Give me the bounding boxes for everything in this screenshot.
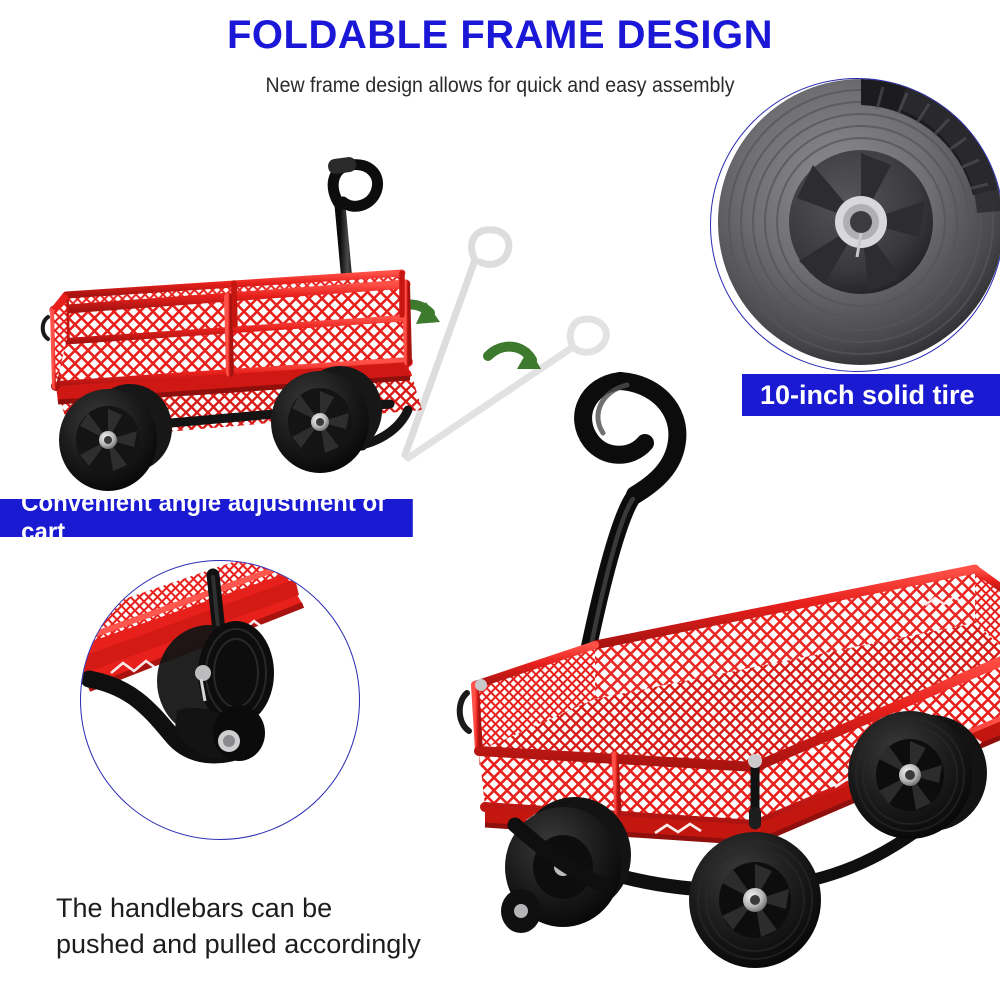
main-wheel-front-near xyxy=(848,711,972,839)
banner-angle-adjustment: Convenient angle adjustment of cart xyxy=(0,499,413,537)
handlebars-caption: The handlebars can be pushed and pulled … xyxy=(56,890,456,963)
cart-wheel-front-near xyxy=(271,371,369,473)
main-cart-steering-fork xyxy=(501,807,621,933)
main-wheel-rear-near xyxy=(689,832,821,968)
handlebars-caption-line1: The handlebars can be xyxy=(56,890,456,926)
page-title: FOLDABLE FRAME DESIGN xyxy=(0,14,1000,56)
handlebars-caption-line2: pushed and pulled accordingly xyxy=(56,926,456,962)
infographic-canvas: FOLDABLE FRAME DESIGN New frame design a… xyxy=(0,0,1000,1000)
main-cart-figure xyxy=(455,355,1000,980)
banner-angle-adjustment-label: Convenient angle adjustment of cart xyxy=(21,489,413,547)
tire-closeup-circle xyxy=(710,78,1000,372)
angle-adjustment-closeup-circle xyxy=(80,560,360,840)
cart-wheel-rear-near xyxy=(59,389,157,491)
folding-cart-figure xyxy=(10,110,480,500)
